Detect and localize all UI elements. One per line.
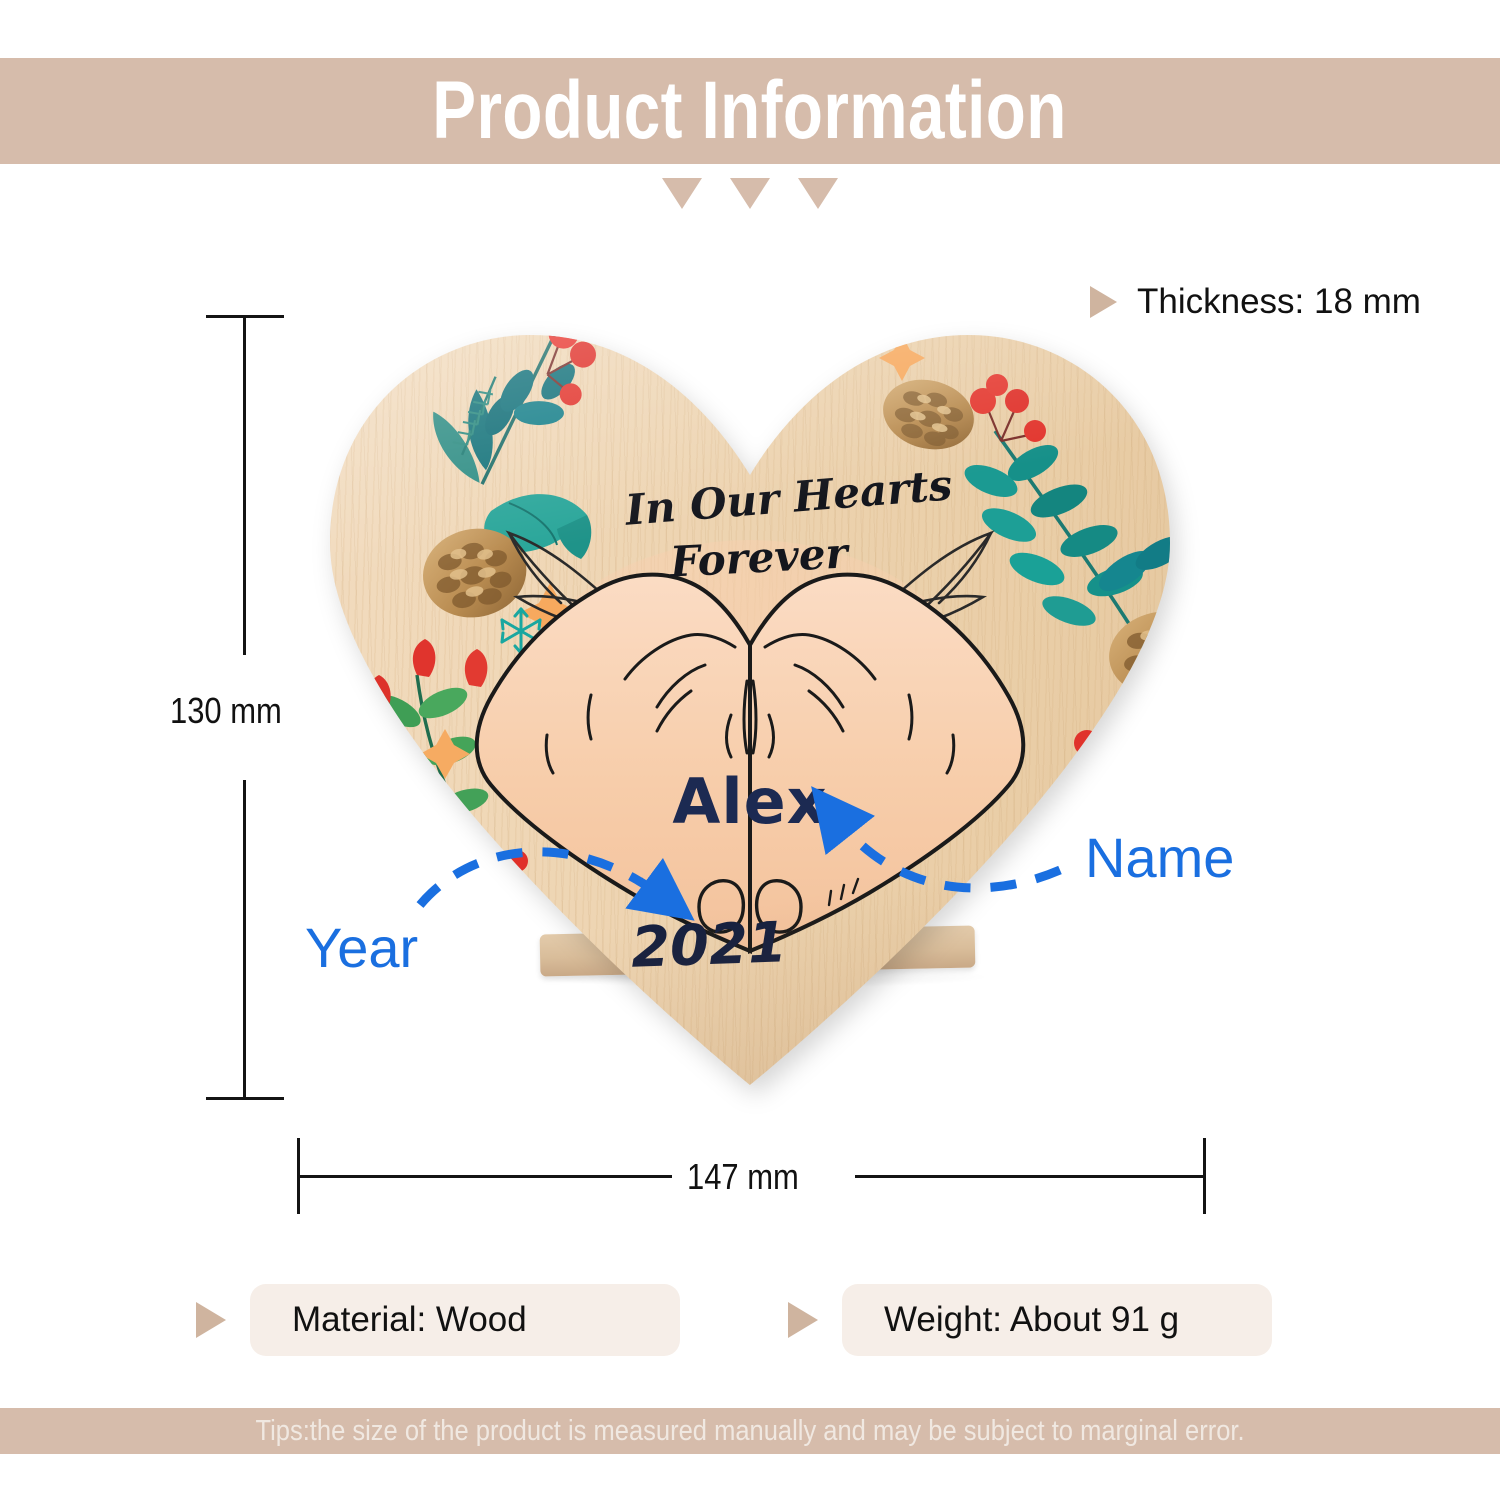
width-dim-right-cap: [1203, 1138, 1206, 1214]
spec-weight: Weight: About 91 g: [788, 1284, 1272, 1356]
spec-material: Material: Wood: [196, 1284, 680, 1356]
spec-weight-box: Weight: About 91 g: [842, 1284, 1272, 1356]
heart-wood-board: In Our Hearts Forever Alex 2021: [295, 315, 1205, 1085]
width-dim-line-right: [855, 1175, 1205, 1178]
page-title: Product Information: [433, 70, 1067, 152]
header-banner: Product Information: [0, 58, 1500, 164]
spec-row: Material: Wood Weight: About 91 g: [0, 1284, 1500, 1356]
spec-weight-label: Weight: About 91 g: [884, 1300, 1179, 1340]
product-information-page: Product Information Thickness: 18 mm 130…: [0, 0, 1500, 1500]
footer-tip-banner: Tips:the size of the product is measured…: [0, 1408, 1500, 1454]
height-dim-line-lower: [243, 780, 246, 1100]
year-annotation-label: Year: [305, 915, 418, 980]
triangle-down-icon: [798, 178, 838, 209]
triangle-down-icon: [662, 178, 702, 209]
width-dim-line-left: [297, 1175, 672, 1178]
spec-material-label: Material: Wood: [292, 1300, 527, 1340]
product-photo: In Our Hearts Forever Alex 2021: [250, 290, 1260, 1120]
triangle-right-icon: [196, 1302, 226, 1338]
height-dim-line-upper: [243, 315, 246, 655]
triangle-down-icon: [730, 178, 770, 209]
header-divider-triangles: [0, 178, 1500, 209]
spec-material-box: Material: Wood: [250, 1284, 680, 1356]
name-annotation-label: Name: [1085, 825, 1234, 890]
footer-tip-text: Tips:the size of the product is measured…: [255, 1415, 1244, 1448]
triangle-right-icon: [788, 1302, 818, 1338]
width-dimension-label: 147 mm: [687, 1156, 799, 1198]
